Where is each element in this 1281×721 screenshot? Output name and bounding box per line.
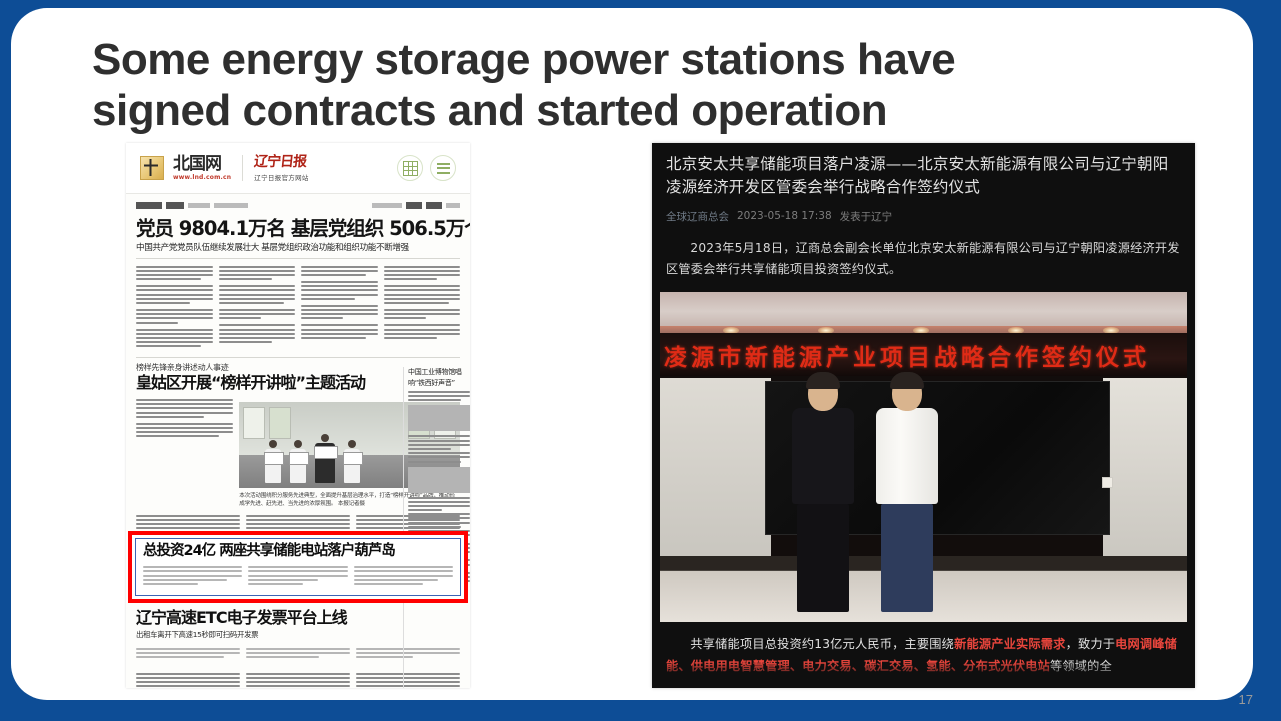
wall-socket [1102,477,1113,488]
article-body-paragraph: 2023年5月18日，辽商总会副会长单位北京安太新能源有限公司与辽宁朝阳凌源经济… [652,224,1195,281]
article-location: 发表于辽宁 [840,209,893,224]
site-branding: 北国网 www.lnd.com.cn [173,156,231,181]
caption-highlight-1: 新能源产业实际需求 [954,637,1066,651]
divider [136,258,460,259]
masthead-icons [397,155,456,181]
menu-icon[interactable] [430,155,456,181]
subheadline-party-members: 中国共产党党员队伍继续发展壮大 基层党组织政治功能和组织功能不断增强 [136,241,460,253]
slide: Some energy storage power stations have … [0,0,1281,721]
masthead-divider [242,155,243,181]
wechat-article-screenshot: 北京安太共享储能项目落户凌源——北京安太新能源有限公司与辽宁朝阳凌源经济开发区管… [652,143,1195,688]
headline-party-members: 党员 9804.1万名 基层党组织 506.5万个 [136,218,460,239]
calendar-icon[interactable] [397,155,423,181]
person-right [876,375,938,612]
beiguo-logo-icon [140,156,164,180]
page-title-line-1: Some energy storage power stations have [92,34,1102,85]
wall-right [1103,378,1187,556]
news-column [301,263,378,352]
news-column [136,263,213,352]
ceremony-banner-text: 凌源市新能源产业项目战略合作签约仪式 [664,338,1150,372]
site-url: www.lnd.com.cn [173,174,231,181]
paper-branding: 辽宁日报 辽宁日报官方网站 [254,155,308,182]
news-column [384,263,461,352]
wall-left [660,378,771,556]
article-source: 全球辽商总会 [666,209,729,224]
person-left [792,375,854,612]
page-number: 17 [1239,692,1253,707]
article-datetime: 2023-05-18 17:38 [737,210,832,222]
page-title: Some energy storage power stations have … [92,34,1102,136]
page-title-line-2: signed contracts and started operation [92,85,1102,136]
newspaper-nav-strip [136,200,460,211]
newspaper-scan-image: 北国网 www.lnd.com.cn 辽宁日报 辽宁日报官方网站 [126,143,470,688]
highlighted-article: 总投资24亿 两座共享储能电站落户葫芦岛 [135,538,461,596]
paper-subtitle: 辽宁日报官方网站 [254,172,308,182]
news-column [136,397,233,509]
sidebar-headline: 中国工业博物馆唱响“铁西好声音” [408,367,470,388]
newspaper-masthead: 北国网 www.lnd.com.cn 辽宁日报 辽宁日报官方网站 [126,143,470,194]
caption-clipped-line: 产业链规划与开发建设，建立战略合作关系。 [666,676,1181,688]
newspaper-sidebar-column: 中国工业博物馆唱响“铁西好声音” [403,367,470,688]
caption-part-2: ，致力于 [1066,637,1116,651]
highlight-red-box: 总投资24亿 两座共享储能电站落户葫芦岛 [128,531,468,603]
newspaper-top-columns [136,263,460,352]
headline-energy-storage-huludao: 总投资24亿 两座共享储能电站落户葫芦岛 [143,544,453,560]
article-caption: 共享储能项目总投资约13亿元人民币，主要围绕新能源产业实际需求，致力于电网调峰储… [652,622,1195,678]
sidebar-photo [408,405,470,431]
paper-calligraphy: 辽宁日报 [254,155,310,169]
caption-part-3: 等领域的全 [1050,659,1112,673]
sidebar-photo [408,467,470,493]
article-photo-signing-ceremony: 凌源市新能源产业项目战略合作签约仪式 [660,292,1187,622]
article-title: 北京安太共享储能项目落户凌源——北京安太新能源有限公司与辽宁朝阳凌源经济开发区管… [652,143,1195,200]
caption-part-1: 共享储能项目总投资约13亿元人民币，主要围绕 [690,637,954,651]
news-column [219,263,296,352]
site-name: 北国网 [173,156,231,173]
article-meta: 全球辽商总会 2023-05-18 17:38 发表于辽宁 [652,200,1195,224]
ceremony-banner: 凌源市新能源产业项目战略合作签约仪式 [660,333,1187,376]
divider [136,357,460,358]
